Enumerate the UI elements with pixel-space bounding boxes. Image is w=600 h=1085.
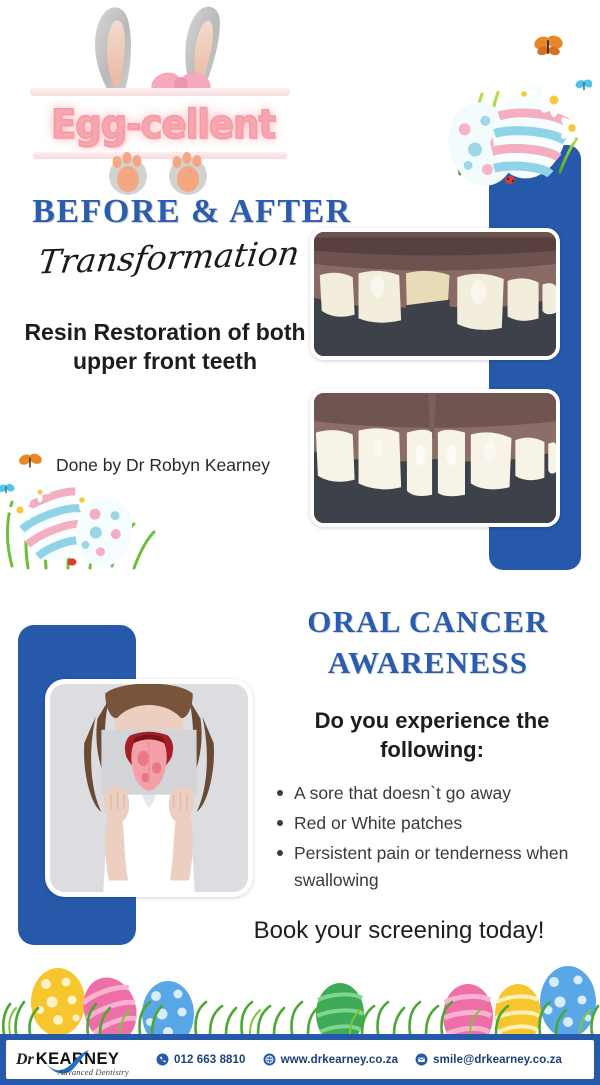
footer-bar: Dr KEARNEY Advanced Dentistry 012 663 88… [0, 1034, 600, 1085]
logo-prefix: Dr [16, 1052, 34, 1068]
easter-egg-grass-border-graphic [0, 958, 600, 1034]
after-photo [310, 389, 560, 527]
contact-website[interactable]: www.drkearney.co.za [263, 1053, 399, 1066]
phone-icon [156, 1053, 169, 1066]
contact-list: 012 663 8810 www.drkearney.co.za [156, 1053, 562, 1066]
daisy-flowers [512, 82, 586, 142]
treatment-credit: Done by Dr Robyn Kearney [18, 455, 308, 476]
butterfly-icon [0, 483, 16, 494]
contact-email[interactable]: smile@drkearney.co.za [415, 1053, 562, 1066]
globe-icon [263, 1053, 276, 1066]
subtitle-script: Transformation [21, 233, 317, 282]
awareness-title-line1: ORAL CANCER [268, 602, 588, 643]
easter-title: Egg-cellent [38, 94, 288, 157]
contact-email-text: smile@drkearney.co.za [433, 1054, 562, 1066]
butterfly-icon [532, 33, 565, 56]
list-item: Persistent pain or tenderness when swall… [272, 840, 592, 894]
footer-content: Dr KEARNEY Advanced Dentistry 012 663 88… [6, 1040, 594, 1079]
awareness-photo [45, 679, 253, 897]
contact-phone[interactable]: 012 663 8810 [156, 1053, 246, 1066]
butterfly-icon [574, 78, 592, 90]
contact-phone-text: 012 663 8810 [174, 1054, 246, 1066]
symptom-list: A sore that doesn`t go away Red or White… [272, 780, 592, 898]
practice-logo[interactable]: Dr KEARNEY Advanced Dentistry [16, 1051, 144, 1068]
email-icon [415, 1053, 428, 1066]
awareness-title-line2: AWARENESS [268, 643, 588, 684]
call-to-action: Book your screening today! [200, 917, 598, 945]
bunny-ears-graphic [74, 2, 250, 98]
poster-canvas: Egg-cellent [0, 0, 600, 1085]
title-shelf-bottom [33, 152, 287, 159]
list-item: A sore that doesn`t go away [272, 780, 592, 807]
page-title: BEFORE & AFTER [22, 193, 362, 231]
treatment-description: Resin Restoration of both upper front te… [20, 318, 310, 377]
contact-website-text: www.drkearney.co.za [281, 1054, 399, 1066]
easter-title-wrap: Egg-cellent [38, 96, 288, 154]
before-photo [310, 228, 560, 360]
awareness-question: Do you experience the following: [276, 707, 588, 764]
logo-tagline: Advanced Dentistry [58, 1067, 129, 1077]
awareness-title: ORAL CANCER AWARENESS [268, 602, 588, 684]
list-item: Red or White patches [272, 810, 592, 837]
daisy-flowers [6, 481, 94, 523]
